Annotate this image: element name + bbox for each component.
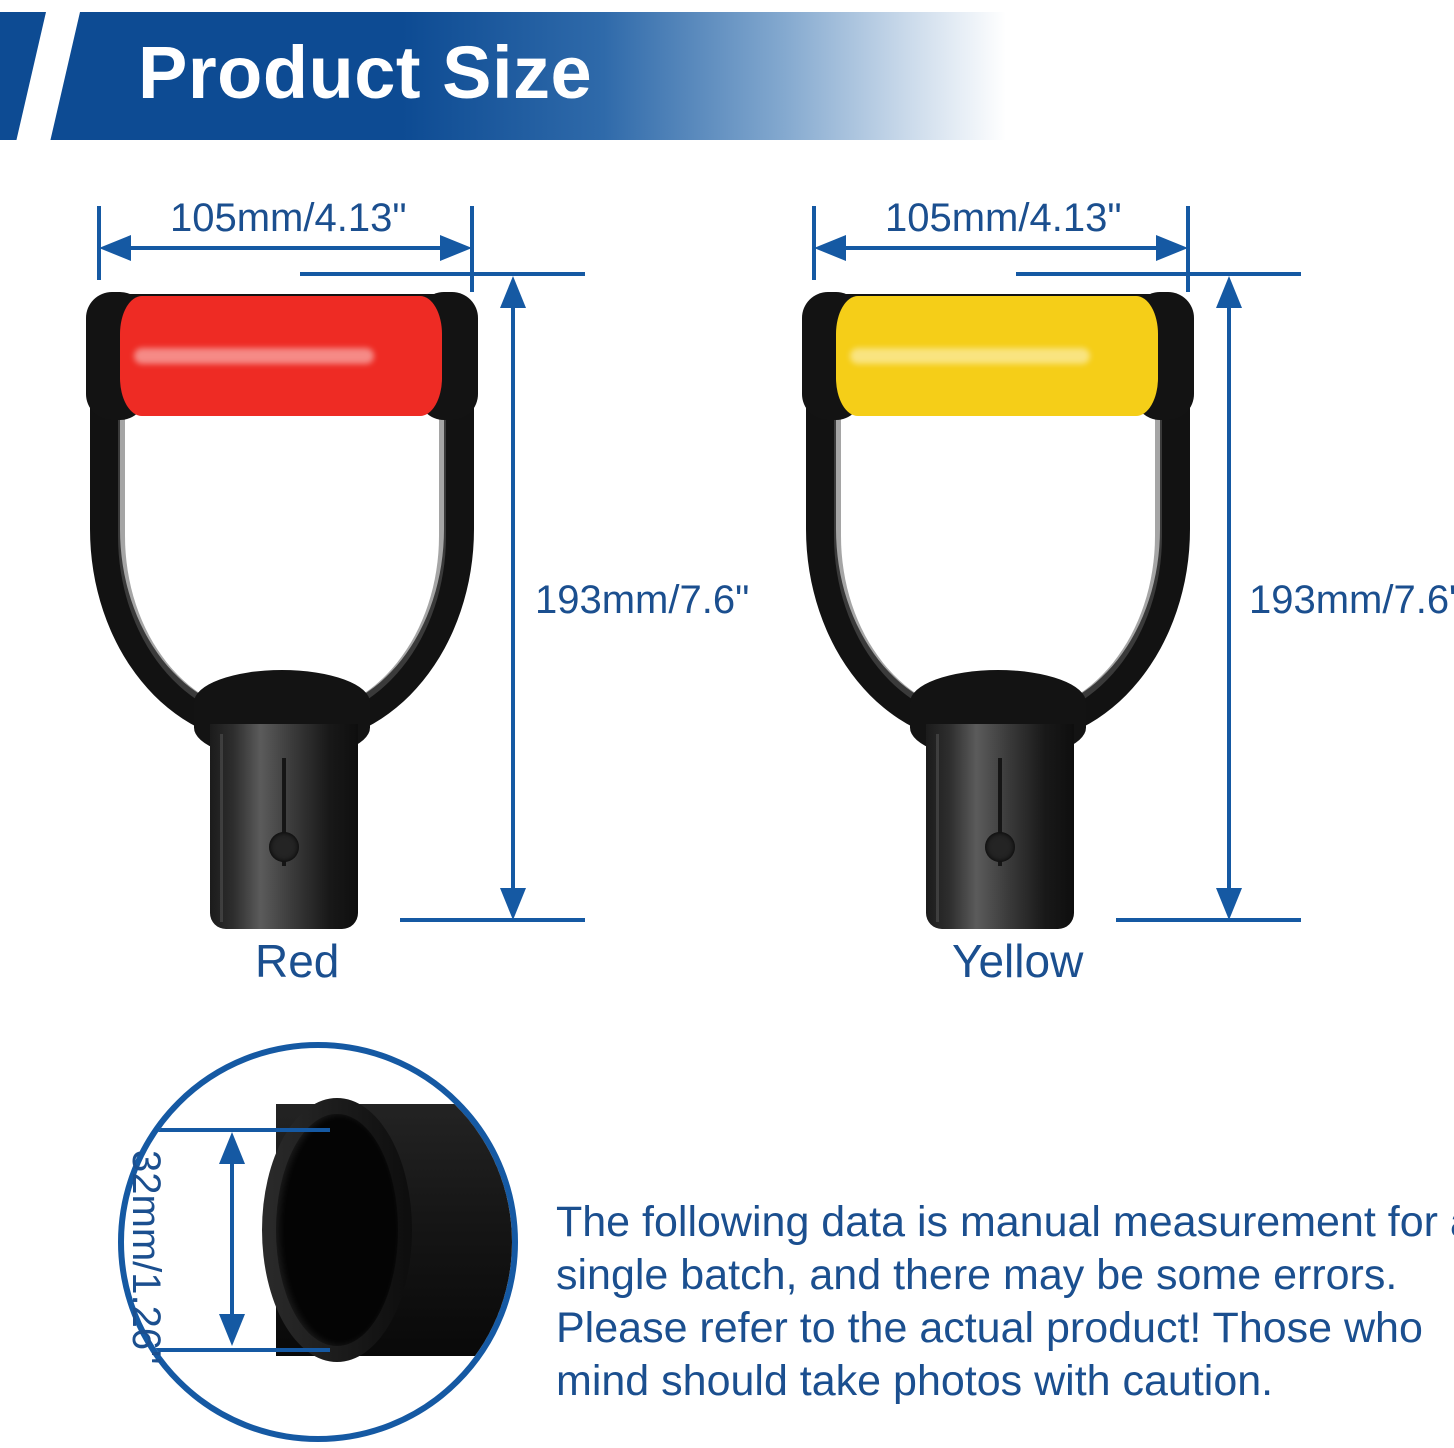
disclaimer-line-3: Please refer to the actual product! Thos… xyxy=(556,1302,1454,1355)
handle-socket-shaft xyxy=(210,724,358,929)
red-height-ext-line-bottom xyxy=(400,918,585,922)
red-height-dimension-line xyxy=(511,290,515,902)
inset-ext-line-bottom xyxy=(154,1348,330,1352)
yellow-height-ext-line-bottom xyxy=(1116,918,1301,922)
red-width-arrow-left xyxy=(99,235,131,261)
yellow-width-arrow-right xyxy=(1156,235,1188,261)
socket-boss xyxy=(269,832,299,862)
product-image-red xyxy=(82,272,482,912)
yellow-width-arrow-left xyxy=(814,235,846,261)
color-label-red: Red xyxy=(255,934,339,988)
red-width-label: 105mm/4.13" xyxy=(170,196,407,241)
socket-edge-highlight xyxy=(936,734,939,922)
red-height-arrow-up xyxy=(500,276,526,308)
inset-arrow-up xyxy=(219,1132,245,1164)
color-label-yellow: Yellow xyxy=(952,934,1083,988)
yellow-height-dimension-line xyxy=(1227,290,1231,902)
yellow-height-arrow-down xyxy=(1216,888,1242,920)
socket-detail-callout xyxy=(118,1042,518,1442)
disclaimer-line-1: The following data is manual measurement… xyxy=(556,1196,1454,1249)
grip-highlight xyxy=(134,348,374,364)
grip-sleeve-red xyxy=(120,296,442,416)
handle-socket-shaft xyxy=(926,724,1074,929)
grip-sleeve-yellow xyxy=(836,296,1158,416)
inset-dimension-line xyxy=(230,1140,234,1340)
page-title: Product Size xyxy=(138,12,592,140)
product-image-yellow xyxy=(798,272,1198,912)
inset-diameter-label: 32mm/1.26" xyxy=(123,1150,168,1364)
red-height-arrow-down xyxy=(500,888,526,920)
yellow-height-label: 193mm/7.6" xyxy=(1249,578,1454,623)
disclaimer-line-4: mind should take photos with caution. xyxy=(556,1355,1454,1408)
disclaimer-line-2: single batch, and there may be some erro… xyxy=(556,1249,1454,1302)
yellow-width-dimension-line xyxy=(828,246,1172,250)
inset-arrow-down xyxy=(219,1314,245,1346)
socket-boss xyxy=(985,832,1015,862)
red-width-dimension-line xyxy=(113,246,457,250)
yellow-height-arrow-up xyxy=(1216,276,1242,308)
red-width-arrow-right xyxy=(440,235,472,261)
socket-edge-highlight xyxy=(220,734,223,922)
disclaimer-text: The following data is manual measurement… xyxy=(556,1196,1454,1408)
grip-highlight xyxy=(850,348,1090,364)
red-height-label: 193mm/7.6" xyxy=(535,578,749,623)
yellow-width-label: 105mm/4.13" xyxy=(885,196,1122,241)
ferrule-bore xyxy=(276,1114,398,1346)
